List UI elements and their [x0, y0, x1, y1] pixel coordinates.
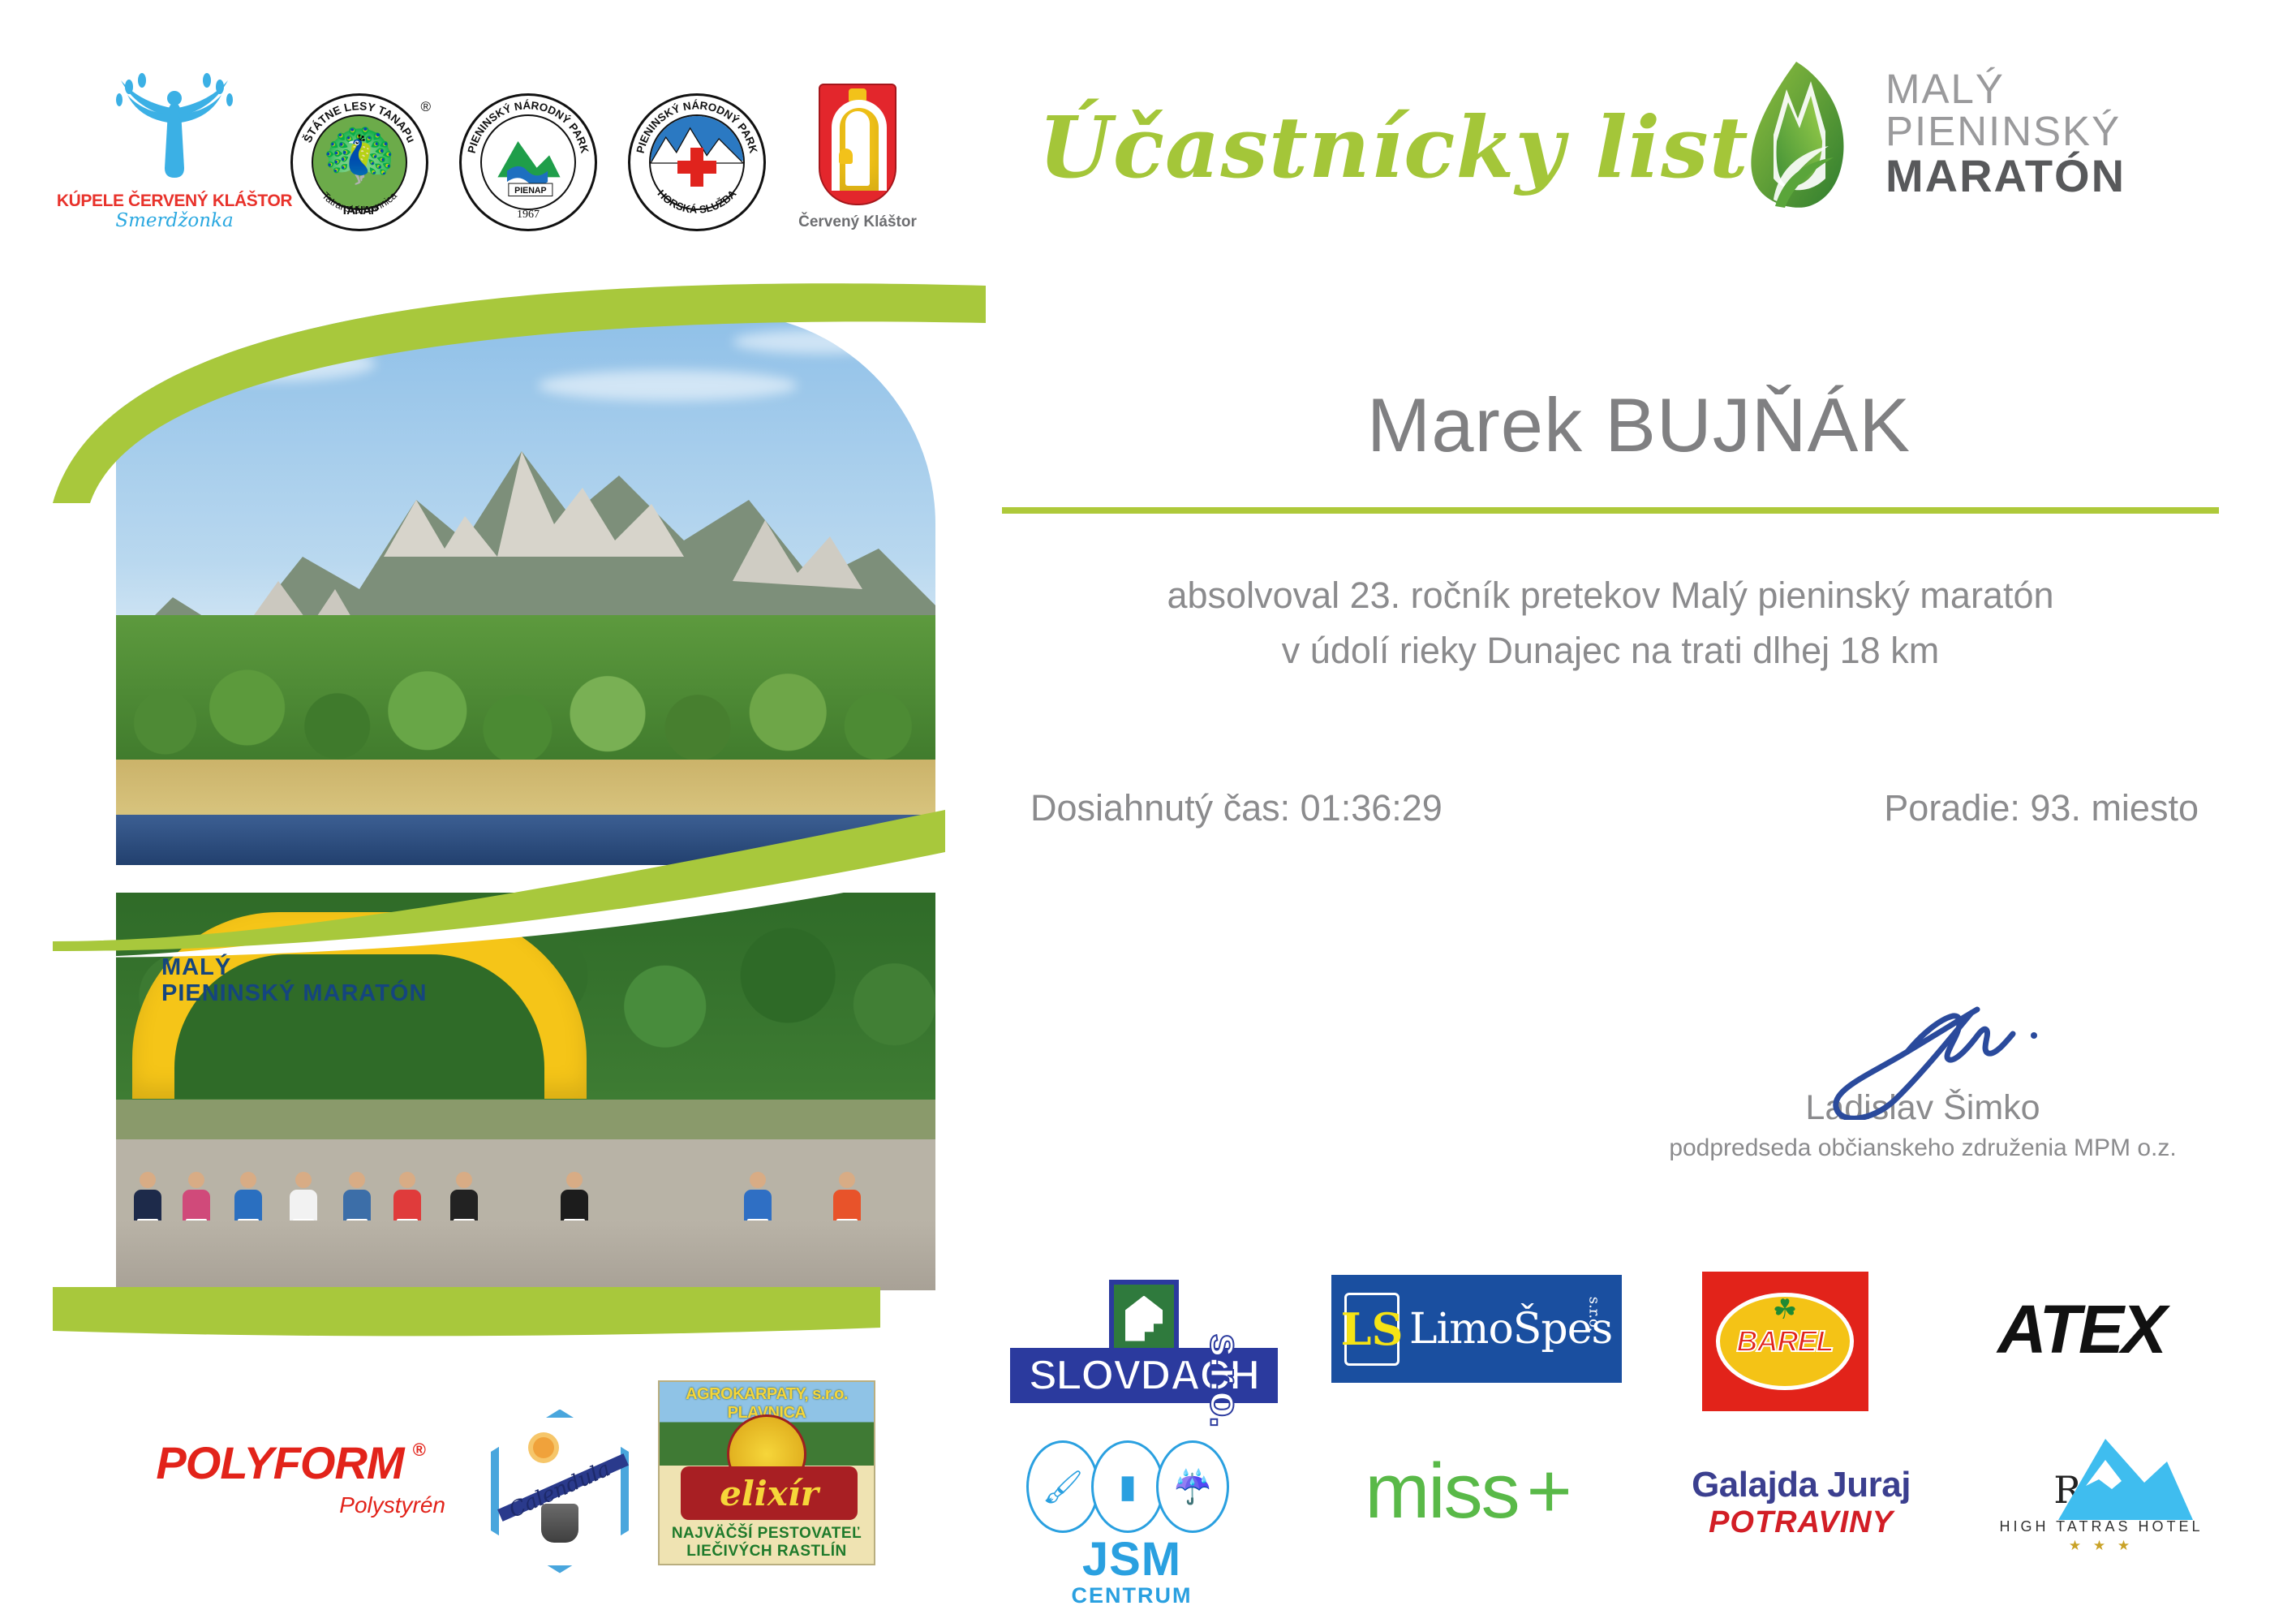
clover-icon: ☘ — [1773, 1294, 1797, 1326]
partner-logo-horska-sluzba: PIENINSKÝ NÁRODNÝ PARK HORSKÁ SLUŽBA — [628, 45, 766, 231]
signatory-role: podpredseda občianskeho združenia MPM o.… — [1639, 1134, 2207, 1162]
svg-text:Tatranská Lomnica: Tatranská Lomnica — [320, 190, 399, 216]
description-line1: absolvoval 23. ročník pretekov Malý pien… — [1002, 568, 2219, 623]
sponsor-logo-galajda-juraj: Galajda Juraj POTRAVINY — [1663, 1465, 1939, 1540]
event-logo-line1: MALÝ — [1885, 68, 2126, 110]
mortar-icon — [541, 1504, 578, 1543]
limospes-badge-text: LS — [1341, 1303, 1404, 1355]
svg-text:HORSKÁ SLUŽBA: HORSKÁ SLUŽBA — [655, 187, 738, 215]
kupele-name: KÚPELE ČERVENÝ KLÁŠTOR — [57, 192, 292, 210]
sponsor-logo-elixir: AGROKARPATY, s.r.o. PLAVNICA elixír NAJV… — [657, 1380, 876, 1566]
partner-logo-strip: KÚPELE ČERVENÝ KLÁŠTOR Smerdžonka 🦚 TANA… — [89, 45, 918, 231]
paint-roller-icon: ▮ — [1091, 1440, 1164, 1533]
tanap-ring-text: ŠTÁTNE LESY TANAPu Tatranská Lomnica — [293, 96, 426, 229]
pienap-seal: PIENAP PIENINSKÝ NÁRODNÝ PARK 1967 — [459, 93, 597, 231]
horska-sluzba-seal: PIENINSKÝ NÁRODNÝ PARK HORSKÁ SLUŽBA — [628, 93, 766, 231]
slovdach-suffix: s.r.o. — [1200, 1333, 1249, 1427]
svg-text:PIENINSKÝ NÁRODNÝ PARK: PIENINSKÝ NÁRODNÝ PARK — [466, 99, 591, 154]
jsm-sub: CENTRUM — [1072, 1583, 1193, 1608]
registered-mark: ® — [420, 99, 431, 115]
svg-text:PIENINSKÝ NÁRODNÝ PARK: PIENINSKÝ NÁRODNÝ PARK — [634, 99, 760, 154]
certificate-page: KÚPELE ČERVENÝ KLÁŠTOR Smerdžonka 🦚 TANA… — [0, 0, 2296, 1623]
sponsor-logo-slovdach: SLOVDACH s.r.o. — [1010, 1270, 1278, 1412]
sponsor-logo-miss-plus: miss + — [1331, 1453, 1606, 1530]
results-row: Dosiahnutý čas: 01:36:29 Poradie: 93. mi… — [1002, 787, 2227, 829]
event-logo: MALÝ PIENINSKÝ MARATÓN — [1728, 57, 2126, 211]
elixir-name: elixír — [720, 1474, 819, 1513]
registered-mark: ® — [412, 1440, 424, 1461]
placement: Poradie: 93. miesto — [1884, 787, 2199, 829]
shower-icon: ☔ — [1156, 1440, 1229, 1533]
handwritten-signature-icon — [1639, 998, 2207, 1116]
water-angel-icon — [93, 71, 256, 192]
miss-plus-sign: + — [1527, 1453, 1572, 1530]
partner-logo-pienap: PIENAP PIENINSKÝ NÁRODNÝ PARK 1967 — [459, 45, 597, 231]
galajda-sub: POTRAVINY — [1709, 1505, 1894, 1540]
horska-ring-text: PIENINSKÝ NÁRODNÝ PARK HORSKÁ SLUŽBA — [630, 96, 763, 229]
barel-name: BAREL — [1737, 1324, 1834, 1358]
tanap-seal: 🦚 TANAP ŠTÁTNE LESY TANAPu Tatranská Lom… — [290, 93, 428, 231]
paint-brush-icon: 🖌 — [1026, 1440, 1099, 1533]
elixir-line1: NAJVÄČŠÍ PESTOVATEĽ — [660, 1525, 874, 1543]
elixir-line2: LIEČIVÝCH RASTLÍN — [660, 1543, 874, 1561]
description-line2: v údolí rieky Dunajec na trati dlhej 18 … — [1002, 623, 2219, 678]
limospes-badge-icon: LS — [1344, 1293, 1400, 1366]
kupele-sub: Smerdžonka — [115, 211, 233, 231]
green-swoosh-top — [20, 235, 1018, 503]
rysy-stars: ★ ★ ★ — [2069, 1538, 2134, 1554]
miss-name: miss — [1365, 1453, 1518, 1530]
arch-line1: MALÝ — [161, 954, 427, 980]
jsm-name: JSM — [1082, 1536, 1181, 1583]
page-title: Účastnícky list — [1038, 97, 1749, 197]
polyform-tagline: Polystyrén — [339, 1492, 445, 1518]
signature-block: Ladislav Šimko podpredseda občianskeho z… — [1639, 998, 2207, 1162]
limospes-name: LimoŠpes — [1409, 1305, 1612, 1354]
partner-logo-kupele-cerveny-klastor: KÚPELE ČERVENÝ KLÁŠTOR Smerdžonka — [89, 45, 260, 231]
atex-name: ATEX — [1997, 1290, 2165, 1369]
partner-logo-cerveny-klastor: Červený Kláštor — [797, 45, 918, 231]
leaf-mountain-icon — [1728, 57, 1864, 211]
mountain-icon — [2008, 1432, 2195, 1522]
polyform-name: POLYFORM — [156, 1437, 403, 1488]
event-logo-line2: PIENINSKÝ — [1885, 110, 2126, 153]
galajda-name: Galajda Juraj — [1692, 1465, 1911, 1505]
sponsor-logo-limospes: LS LimoŠpes s.r.o. — [1331, 1274, 1623, 1384]
event-logo-line3: MARATÓN — [1885, 153, 2126, 199]
sponsor-logo-jsm-centrum: 🖌 ▮ ☔ JSM CENTRUM — [1010, 1440, 1253, 1608]
sponsor-logo-polyform: POLYFORM® Polystyrén — [110, 1436, 450, 1518]
title-divider — [1002, 507, 2219, 514]
photo-panel: MALÝ PIENINSKÝ MARATÓN 310 275 199 110 6… — [53, 243, 941, 1323]
house-icon — [1109, 1280, 1179, 1354]
svg-text:ŠTÁTNE LESY TANAPu: ŠTÁTNE LESY TANAPu — [300, 99, 419, 144]
recipient-name: Marek BUJŇÁK — [1038, 381, 2239, 469]
finish-time: Dosiahnutý čas: 01:36:29 — [1030, 787, 1443, 829]
sponsor-logo-barel: ☘ BAREL — [1700, 1270, 1870, 1412]
limospes-suffix: s.r.o. — [1586, 1297, 1603, 1332]
pienap-year: 1967 — [517, 209, 540, 222]
coat-of-arms-icon — [819, 84, 896, 205]
arch-line2: PIENINSKÝ MARATÓN — [161, 980, 427, 1006]
cerveny-klastor-caption: Červený Kláštor — [798, 213, 917, 231]
sponsor-logo-atex: ATEX — [1947, 1290, 2215, 1369]
sponsor-logo-calendula: Calendula — [487, 1416, 633, 1566]
partner-logo-tanap: 🦚 TANAP ŠTÁTNE LESY TANAPu Tatranská Lom… — [290, 45, 428, 231]
photo-runners: MALÝ PIENINSKÝ MARATÓN 310 275 199 110 6… — [116, 893, 935, 1290]
sponsor-logo-rysy-hotel: Rysy HIGH TATRAS HOTEL ★ ★ ★ — [1988, 1432, 2215, 1554]
flower-icon — [533, 1437, 554, 1458]
certificate-description: absolvoval 23. ročník pretekov Malý pien… — [1002, 568, 2219, 678]
